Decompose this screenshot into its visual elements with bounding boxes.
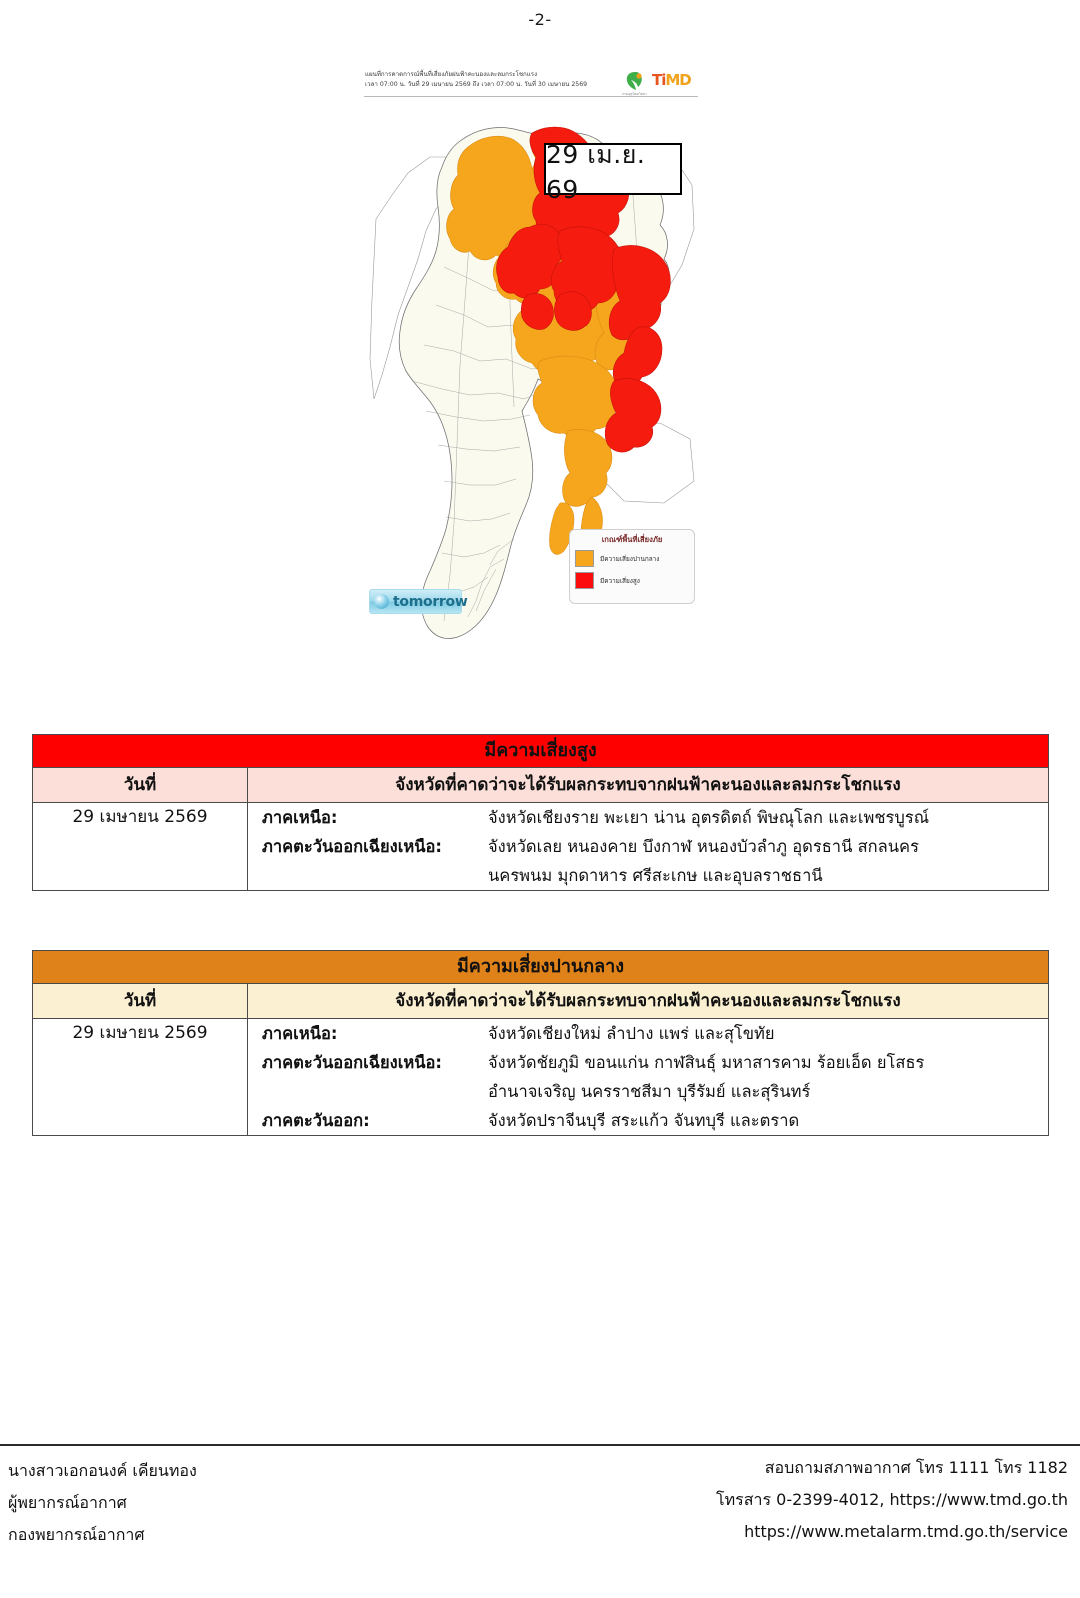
page-number: -2-	[0, 10, 1080, 29]
high-risk-body: ภาคเหนือ: จังหวัดเชียงราย พะเยา น่าน อุต…	[248, 803, 1049, 891]
entry-province-list: จังหวัดชัยภูมิ ขอนแก่น กาฬสินธุ์ มหาสารค…	[488, 1048, 1048, 1106]
legend-label-high: มีความเสี่ยงสูง	[600, 576, 640, 586]
high-risk-table: มีความเสี่ยงสูง วันที่ จังหวัดที่คาดว่าจ…	[32, 734, 1049, 891]
high-risk-col-provinces: จังหวัดที่คาดว่าจะได้รับผลกระทบจากฝนฟ้าค…	[248, 768, 1049, 803]
moderate-risk-col-provinces: จังหวัดที่คาดว่าจะได้รับผลกระทบจากฝนฟ้าค…	[248, 984, 1049, 1019]
entry-region-label: ภาคตะวันออกเฉียงเหนือ:	[248, 1048, 488, 1077]
globe-icon	[374, 594, 389, 609]
table-row: 29 เมษายน 2569 ภาคเหนือ: จังหวัดเชียงราย…	[33, 803, 1049, 891]
entry-east: ภาคตะวันออก: จังหวัดปราจีนบุรี สระแก้ว จ…	[248, 1106, 1048, 1135]
table-header-row: วันที่ จังหวัดที่คาดว่าจะได้รับผลกระทบจา…	[33, 984, 1049, 1019]
entry-province-list: จังหวัดเชียงราย พะเยา น่าน อุตรดิตถ์ พิษ…	[488, 803, 1048, 832]
moderate-risk-col-date: วันที่	[33, 984, 248, 1019]
entry-province-line-2: นครพนม มุกดาหาร ศรีสะเกษ และอุบลราชธานี	[488, 861, 1040, 890]
entry-province-line-1: จังหวัดชัยภูมิ ขอนแก่น กาฬสินธุ์ มหาสารค…	[488, 1053, 924, 1072]
entry-northeast: ภาคตะวันออกเฉียงเหนือ: จังหวัดเลย หนองคา…	[248, 832, 1048, 890]
legend-title: เกณฑ์พื้นที่เสี่ยงภัย	[575, 534, 689, 546]
thailand-risk-map: 29 เม.ย. 69 tomorrow เกณฑ์พื้นที่เสี่ยงภ…	[364, 99, 698, 652]
entry-province-list: จังหวัดเชียงใหม่ ลำปาง แพร่ และสุโขทัย	[488, 1019, 1048, 1048]
entry-north: ภาคเหนือ: จังหวัดเชียงใหม่ ลำปาง แพร่ แล…	[248, 1019, 1048, 1048]
entry-northeast: ภาคตะวันออกเฉียงเหนือ: จังหวัดชัยภูมิ ขอ…	[248, 1048, 1048, 1106]
tomorrow-badge: tomorrow	[369, 589, 462, 614]
forecaster-division: กองพยากรณ์อากาศ	[8, 1519, 508, 1551]
entry-region-label: ภาคเหนือ:	[248, 803, 488, 832]
table-row: 29 เมษายน 2569 ภาคเหนือ: จังหวัดเชียงใหม…	[33, 1019, 1049, 1136]
map-date-stamp: 29 เม.ย. 69	[544, 143, 682, 195]
map-logos: TiMD กรมอุตุนิยมวิทยา	[622, 68, 698, 98]
entry-region-label: ภาคตะวันออก:	[248, 1106, 488, 1135]
moderate-risk-body: ภาคเหนือ: จังหวัดเชียงใหม่ ลำปาง แพร่ แล…	[248, 1019, 1049, 1136]
moderate-risk-banner: มีความเสี่ยงปานกลาง	[33, 951, 1049, 984]
entry-province-line-1: จังหวัดเลย หนองคาย บึงกาฬ หนองบัวลำภู อุ…	[488, 837, 919, 856]
legend-swatch-moderate	[575, 550, 594, 567]
map-caption: แผนที่การคาดการณ์พื้นที่เสี่ยงภัยฝนฟ้าคะ…	[365, 70, 633, 89]
entry-province-line-2: อำนาจเจริญ นครราชสีมา บุรีรัมย์ และสุริน…	[488, 1077, 1040, 1106]
footer-contact-block: สอบถามสภาพอากาศ โทร 1111 โทร 1182 โทรสาร…	[548, 1452, 1068, 1548]
high-risk-col-date: วันที่	[33, 768, 248, 803]
map-caption-line-2: เวลา 07:00 น. วันที่ 29 เมษายน 2569 ถึง …	[365, 80, 633, 90]
legend-swatch-high	[575, 572, 594, 589]
table-header-row: วันที่ จังหวัดที่คาดว่าจะได้รับผลกระทบจา…	[33, 768, 1049, 803]
forecaster-title: ผู้พยากรณ์อากาศ	[8, 1487, 508, 1519]
legend-item-high: มีความเสี่ยงสูง	[575, 572, 689, 589]
forecaster-name: นางสาวเอกอนงค์ เคียนทอง	[8, 1455, 508, 1487]
table-banner-row: มีความเสี่ยงปานกลาง	[33, 951, 1049, 984]
footer-divider	[0, 1444, 1080, 1446]
legend-label-moderate: มีความเสี่ยงปานกลาง	[600, 554, 659, 564]
entry-province-list: จังหวัดปราจีนบุรี สระแก้ว จันทบุรี และตร…	[488, 1106, 1048, 1135]
map-caption-line-1: แผนที่การคาดการณ์พื้นที่เสี่ยงภัยฝนฟ้าคะ…	[365, 70, 633, 80]
table-banner-row: มีความเสี่ยงสูง	[33, 735, 1049, 768]
legend-item-moderate: มีความเสี่ยงปานกลาง	[575, 550, 689, 567]
leaf-logo-icon	[622, 70, 648, 92]
tmd-wordmark-part2: MD	[665, 71, 690, 89]
map-legend: เกณฑ์พื้นที่เสี่ยงภัย มีความเสี่ยงปานกลา…	[569, 529, 695, 604]
entry-province-list: จังหวัดเลย หนองคาย บึงกาฬ หนองบัวลำภู อุ…	[488, 832, 1048, 890]
high-risk-date: 29 เมษายน 2569	[33, 803, 248, 891]
entry-region-label: ภาคเหนือ:	[248, 1019, 488, 1048]
map-figure: แผนที่การคาดการณ์พื้นที่เสี่ยงภัยฝนฟ้าคะ…	[362, 68, 700, 656]
moderate-risk-table: มีความเสี่ยงปานกลาง วันที่ จังหวัดที่คาด…	[32, 950, 1049, 1136]
contact-phone-line: สอบถามสภาพอากาศ โทร 1111 โทร 1182	[548, 1452, 1068, 1484]
tmd-wordmark-part1: Ti	[652, 71, 665, 89]
moderate-risk-date: 29 เมษายน 2569	[33, 1019, 248, 1136]
entry-region-label: ภาคตะวันออกเฉียงเหนือ:	[248, 832, 488, 861]
footer-signature-block: นางสาวเอกอนงค์ เคียนทอง ผู้พยากรณ์อากาศ …	[8, 1455, 508, 1551]
contact-fax-website-line: โทรสาร 0-2399-4012, https://www.tmd.go.t…	[548, 1484, 1068, 1516]
caption-divider	[364, 96, 698, 97]
contact-service-url: https://www.metalarm.tmd.go.th/service	[548, 1516, 1068, 1548]
entry-north: ภาคเหนือ: จังหวัดเชียงราย พะเยา น่าน อุต…	[248, 803, 1048, 832]
tmd-wordmark: TiMD	[652, 71, 691, 89]
tomorrow-label: tomorrow	[393, 594, 467, 610]
high-risk-banner: มีความเสี่ยงสูง	[33, 735, 1049, 768]
